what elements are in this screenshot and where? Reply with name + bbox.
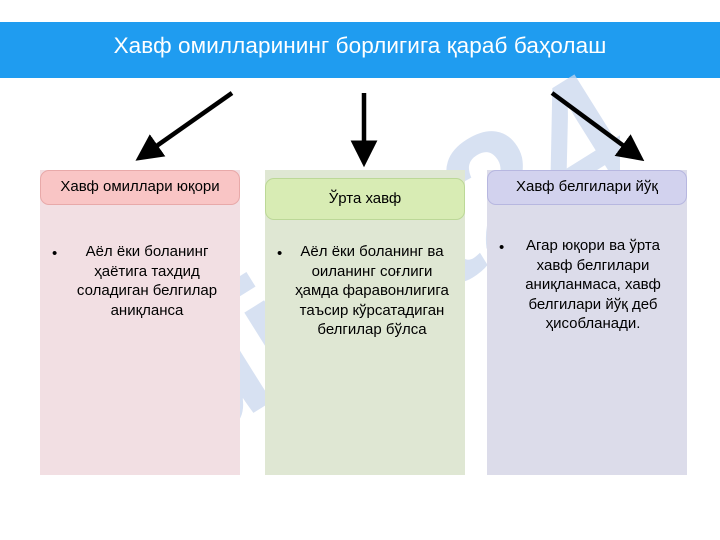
column-medium-risk: Ўрта хавф • Аёл ёки боланинг ва оиланинг… [265,170,465,475]
bullet-marker: • [277,244,282,264]
column-content: • Аёл ёки боланинг ва оиланинг соғлиги ҳ… [265,242,465,340]
columns-container: Хавф омиллари юқори • Аёл ёки боланинг ҳ… [0,0,720,540]
slide: Хавф омилларининг борлигига қараб баҳола… [0,0,720,540]
list-item: • Аёл ёки боланинг ҳаётига тахдид солади… [50,242,230,320]
list-item: • Агар юқори ва ўрта хавф белгилари аниқ… [497,236,677,334]
column-body [40,170,240,475]
column-no-risk: Хавф белгилари йўқ • Агар юқори ва ўрта … [487,170,687,475]
column-content: • Аёл ёки боланинг ҳаётига тахдид солади… [40,242,240,320]
list-item: • Аёл ёки боланинг ва оиланинг соғлиги ҳ… [275,242,455,340]
column-header: Хавф омиллари юқори [40,170,240,205]
column-content: • Агар юқори ва ўрта хавф белгилари аниқ… [487,236,687,334]
list-item-text: Агар юқори ва ўрта хавф белгилари аниқла… [525,237,661,332]
bullet-marker: • [52,244,57,264]
column-high-risk: Хавф омиллари юқори • Аёл ёки боланинг ҳ… [40,170,240,475]
list-item-text: Аёл ёки боланинг ҳаётига тахдид соладига… [77,243,217,319]
column-header: Хавф белгилари йўқ [487,170,687,205]
list-item-text: Аёл ёки боланинг ва оиланинг соғлиги ҳам… [295,243,449,338]
column-header: Ўрта хавф [265,178,465,220]
bullet-marker: • [499,238,504,258]
